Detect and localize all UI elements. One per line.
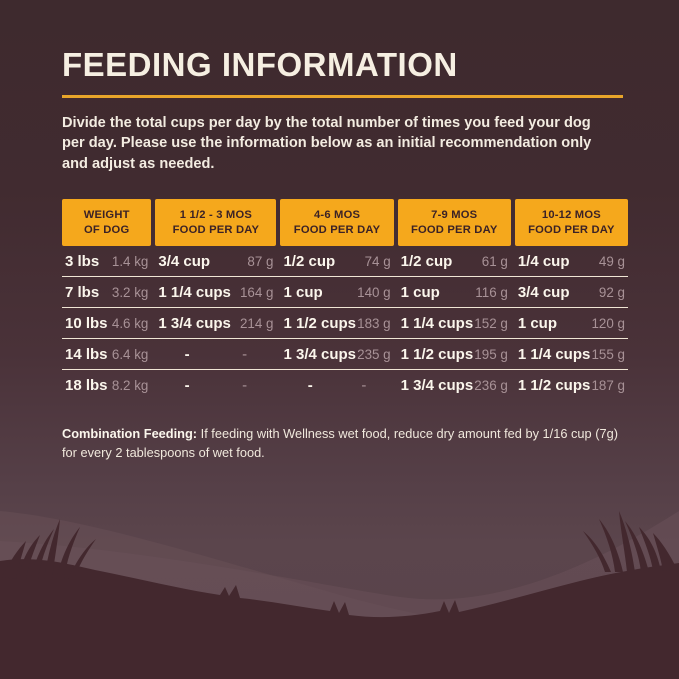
cell-4-6-mos: 1 1/2 cups 183 g bbox=[280, 315, 393, 332]
table-row: 10 lbs 4.6 kg 1 3/4 cups 214 g 1 1/2 cup… bbox=[62, 308, 628, 339]
cell-7-9-mos: 1 cup 116 g bbox=[398, 284, 511, 301]
cell-10-12-mos: 1 1/2 cups 187 g bbox=[515, 377, 628, 394]
amount-grams: 235 g bbox=[357, 347, 391, 362]
amount-grams: 195 g bbox=[474, 347, 508, 362]
amount-cups: 1 1/4 cups bbox=[401, 315, 474, 332]
cell-10-12-mos: 3/4 cup 92 g bbox=[515, 284, 628, 301]
feeding-information-panel: FEEDING INFORMATION Divide the total cup… bbox=[0, 0, 679, 679]
page-title: FEEDING INFORMATION bbox=[62, 48, 623, 83]
amount-cups: 1/2 cup bbox=[401, 253, 453, 270]
amount-grams: 155 g bbox=[591, 347, 625, 362]
column-header-line1: 10-12 MOS bbox=[517, 208, 626, 223]
cell-weight: 7 lbs 3.2 kg bbox=[62, 284, 151, 301]
amount-grams: 49 g bbox=[599, 254, 625, 269]
table-row: 14 lbs 6.4 kg - - 1 3/4 cups 235 g 1 1/2… bbox=[62, 339, 628, 370]
content-area: FEEDING INFORMATION Divide the total cup… bbox=[0, 0, 679, 462]
cell-10-12-mos: 1/4 cup 49 g bbox=[515, 253, 628, 270]
amount-cups: 3/4 cup bbox=[518, 284, 570, 301]
grass-tuft-left bbox=[2, 519, 96, 580]
amount-cups: 3/4 cup bbox=[158, 253, 210, 270]
amount-cups: - bbox=[185, 346, 190, 363]
feeding-table: WEIGHT OF DOG 1 1/2 - 3 MOS FOOD PER DAY… bbox=[62, 199, 628, 401]
column-header-weight-of-dog: WEIGHT OF DOG bbox=[62, 199, 151, 247]
cell-weight: 10 lbs 4.6 kg bbox=[62, 315, 151, 332]
table-header-row: WEIGHT OF DOG 1 1/2 - 3 MOS FOOD PER DAY… bbox=[62, 199, 628, 247]
column-header-line1: 1 1/2 - 3 MOS bbox=[157, 208, 274, 223]
column-header-line2: OF DOG bbox=[64, 223, 149, 238]
column-header-line2: FOOD PER DAY bbox=[400, 223, 509, 238]
intro-paragraph: Divide the total cups per day by the tot… bbox=[62, 113, 592, 175]
column-header-line1: WEIGHT bbox=[64, 208, 149, 223]
cell-7-9-mos: 1 1/4 cups 152 g bbox=[398, 315, 511, 332]
amount-cups: 1 1/2 cups bbox=[518, 377, 591, 394]
amount-grams: 116 g bbox=[475, 285, 508, 300]
weight-lbs: 10 lbs bbox=[65, 315, 108, 332]
amount-cups: - bbox=[185, 377, 190, 394]
column-header-line2: FOOD PER DAY bbox=[157, 223, 274, 238]
amount-grams: 187 g bbox=[591, 378, 625, 393]
amount-grams: 236 g bbox=[474, 378, 508, 393]
column-header-line1: 4-6 MOS bbox=[282, 208, 391, 223]
cell-4-6-mos: 1 3/4 cups 235 g bbox=[280, 346, 393, 363]
weight-kg: 4.6 kg bbox=[112, 316, 148, 331]
cell-1-5-to-3-mos: 1 3/4 cups 214 g bbox=[155, 315, 276, 332]
cell-weight: 18 lbs 8.2 kg bbox=[62, 377, 151, 394]
cell-1-5-to-3-mos: - - bbox=[155, 346, 276, 363]
amount-grams: 87 g bbox=[247, 254, 273, 269]
cell-weight: 3 lbs 1.4 kg bbox=[62, 253, 151, 270]
cell-7-9-mos: 1 1/2 cups 195 g bbox=[398, 346, 511, 363]
weight-kg: 1.4 kg bbox=[112, 254, 148, 269]
amount-grams: - bbox=[361, 377, 366, 394]
weight-lbs: 3 lbs bbox=[65, 253, 99, 270]
weight-kg: 6.4 kg bbox=[112, 347, 148, 362]
amount-cups: 1 cup bbox=[518, 315, 557, 332]
amount-cups: 1/4 cup bbox=[518, 253, 570, 270]
amount-cups: 1/2 cup bbox=[283, 253, 335, 270]
cell-10-12-mos: 1 cup 120 g bbox=[515, 315, 628, 332]
combination-feeding-label: Combination Feeding: bbox=[62, 426, 197, 441]
weight-lbs: 14 lbs bbox=[65, 346, 108, 363]
cell-4-6-mos: 1/2 cup 74 g bbox=[280, 253, 393, 270]
amount-grams: 92 g bbox=[599, 285, 625, 300]
weight-kg: 3.2 kg bbox=[112, 285, 148, 300]
weight-kg: 8.2 kg bbox=[112, 378, 148, 393]
weight-lbs: 7 lbs bbox=[65, 284, 99, 301]
amount-cups: 1 3/4 cups bbox=[283, 346, 356, 363]
cell-7-9-mos: 1 3/4 cups 236 g bbox=[398, 377, 511, 394]
combination-feeding-note: Combination Feeding: If feeding with Wel… bbox=[62, 425, 622, 462]
amount-grams: 140 g bbox=[357, 285, 391, 300]
cell-1-5-to-3-mos: 1 1/4 cups 164 g bbox=[155, 284, 276, 301]
amount-grams: 152 g bbox=[474, 316, 508, 331]
amount-cups: 1 1/4 cups bbox=[158, 284, 231, 301]
column-header-line1: 7-9 MOS bbox=[400, 208, 509, 223]
landscape-illustration bbox=[0, 449, 679, 679]
cell-1-5-to-3-mos: 3/4 cup 87 g bbox=[155, 253, 276, 270]
column-header-10-12-mos: 10-12 MOS FOOD PER DAY bbox=[515, 199, 628, 247]
amount-cups: 1 1/2 cups bbox=[401, 346, 474, 363]
cell-weight: 14 lbs 6.4 kg bbox=[62, 346, 151, 363]
column-header-1-5-to-3-mos: 1 1/2 - 3 MOS FOOD PER DAY bbox=[155, 199, 276, 247]
amount-grams: 214 g bbox=[240, 316, 274, 331]
cell-4-6-mos: 1 cup 140 g bbox=[280, 284, 393, 301]
foreground-ridge bbox=[0, 559, 679, 679]
table-row: 3 lbs 1.4 kg 3/4 cup 87 g 1/2 cup 74 g 1… bbox=[62, 246, 628, 277]
amount-grams: 183 g bbox=[357, 316, 391, 331]
amount-grams: 120 g bbox=[591, 316, 625, 331]
cell-10-12-mos: 1 1/4 cups 155 g bbox=[515, 346, 628, 363]
amount-cups: 1 1/2 cups bbox=[283, 315, 356, 332]
amount-cups: - bbox=[308, 377, 313, 394]
column-header-7-9-mos: 7-9 MOS FOOD PER DAY bbox=[398, 199, 511, 247]
amount-cups: 1 1/4 cups bbox=[518, 346, 591, 363]
weight-lbs: 18 lbs bbox=[65, 377, 108, 394]
cell-4-6-mos: - - bbox=[280, 377, 393, 394]
amount-cups: 1 3/4 cups bbox=[158, 315, 231, 332]
cell-7-9-mos: 1/2 cup 61 g bbox=[398, 253, 511, 270]
amount-grams: 164 g bbox=[240, 285, 274, 300]
amount-grams: 74 g bbox=[365, 254, 391, 269]
amount-grams: - bbox=[242, 377, 247, 394]
amount-grams: - bbox=[242, 346, 247, 363]
cell-1-5-to-3-mos: - - bbox=[155, 377, 276, 394]
grass-tuft-right bbox=[583, 511, 677, 572]
title-underline-rule bbox=[62, 95, 623, 98]
column-header-line2: FOOD PER DAY bbox=[517, 223, 626, 238]
table-row: 7 lbs 3.2 kg 1 1/4 cups 164 g 1 cup 140 … bbox=[62, 277, 628, 308]
amount-cups: 1 cup bbox=[401, 284, 440, 301]
column-header-line2: FOOD PER DAY bbox=[282, 223, 391, 238]
column-header-4-6-mos: 4-6 MOS FOOD PER DAY bbox=[280, 199, 393, 247]
amount-grams: 61 g bbox=[482, 254, 508, 269]
amount-cups: 1 3/4 cups bbox=[401, 377, 474, 394]
hill-left bbox=[0, 511, 679, 679]
hill-right bbox=[0, 511, 679, 679]
table-row: 18 lbs 8.2 kg - - - - 1 3/4 cups 236 g 1… bbox=[62, 370, 628, 400]
amount-cups: 1 cup bbox=[283, 284, 322, 301]
